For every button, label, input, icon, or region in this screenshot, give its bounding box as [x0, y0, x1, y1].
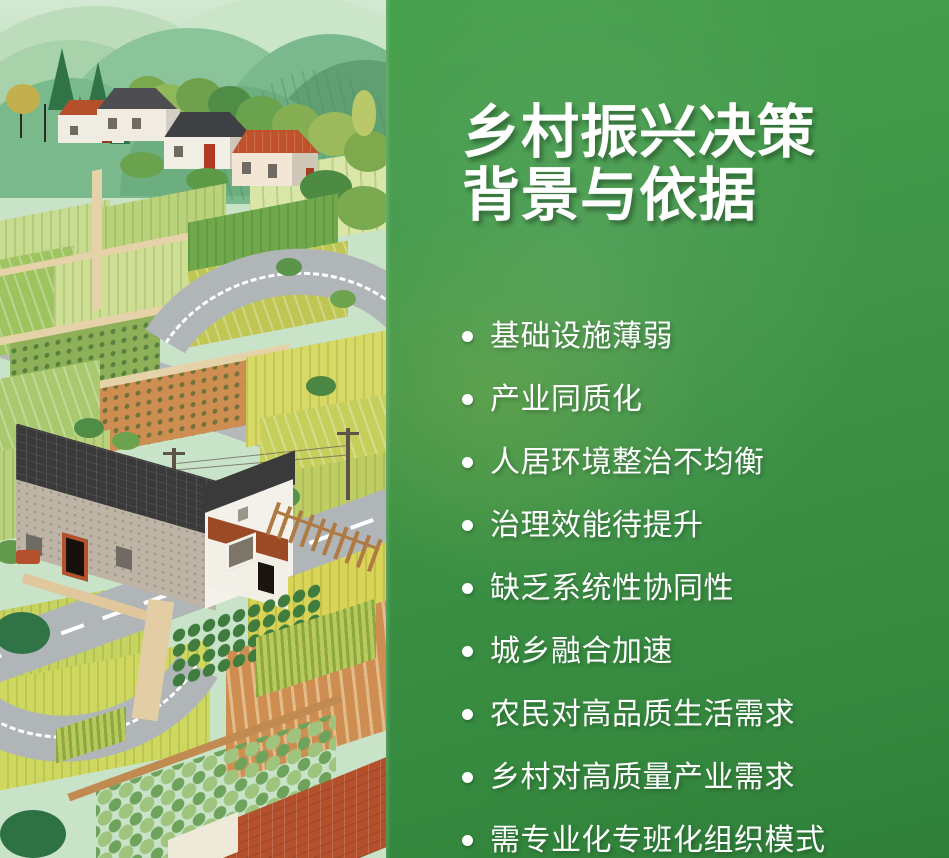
content-panel: 乡村振兴决策 背景与依据 基础设施薄弱 产业同质化 人居环境整治不均衡 治理效能… [386, 0, 949, 858]
tree-canopy [6, 84, 40, 114]
rural-landscape-illustration [0, 0, 386, 858]
bullet-dot-icon [462, 709, 473, 720]
list-item-label: 乡村对高质量产业需求 [490, 763, 795, 793]
page-title: 乡村振兴决策 背景与依据 [462, 101, 932, 226]
list-item-label: 人居环境整治不均衡 [490, 448, 765, 478]
slide-root: 乡村振兴决策 背景与依据 基础设施薄弱 产业同质化 人居环境整治不均衡 治理效能… [0, 0, 949, 858]
list-item-label: 需专业化专班化组织模式 [490, 826, 826, 856]
flower-pot [16, 550, 40, 564]
list-item-label: 农民对高品质生活需求 [490, 700, 795, 730]
bullet-dot-icon [462, 772, 473, 783]
bare-tree-icon [44, 104, 46, 142]
list-item-label: 治理效能待提升 [490, 511, 704, 541]
list-item: 治理效能待提升 [462, 494, 932, 557]
list-item-label: 产业同质化 [490, 385, 643, 415]
bullet-dot-icon [462, 835, 473, 846]
list-item: 需专业化专班化组织模式 [462, 809, 932, 858]
annex-door [258, 562, 274, 595]
bullet-dot-icon [462, 457, 473, 468]
field-path [92, 169, 102, 311]
list-item: 城乡融合加速 [462, 620, 932, 683]
house-window [108, 118, 117, 129]
bullet-dot-icon [462, 520, 473, 531]
roof-tile-texture [230, 132, 318, 152]
list-item: 乡村对高质量产业需求 [462, 746, 932, 809]
list-item: 农民对高品质生活需求 [462, 683, 932, 746]
page-title-line-2: 背景与依据 [462, 164, 932, 227]
list-item-label: 基础设施薄弱 [490, 322, 673, 352]
utility-pole [346, 428, 350, 500]
list-item: 缺乏系统性协同性 [462, 557, 932, 620]
roadside-shrub [330, 290, 356, 308]
list-item-label: 缺乏系统性协同性 [490, 574, 734, 604]
farmhouse-window [116, 546, 132, 571]
list-item: 人居环境整治不均衡 [462, 431, 932, 494]
house-window [70, 126, 78, 135]
bullet-dot-icon [462, 331, 473, 342]
bullet-dot-icon [462, 646, 473, 657]
roadside-shrub [276, 258, 302, 276]
tree-canopy [352, 90, 376, 136]
roadside-shrub [112, 432, 140, 450]
farmhouse-main-door [62, 532, 88, 581]
roadside-shrub [306, 376, 336, 396]
list-item: 产业同质化 [462, 368, 932, 431]
page-title-line-1: 乡村振兴决策 [462, 101, 932, 164]
roadside-shrub [74, 418, 104, 438]
panel-left-edge-highlight [386, 0, 391, 858]
foreground-tree [0, 810, 66, 858]
house-roof [92, 88, 178, 110]
foreground-farmhouse [10, 452, 300, 602]
bullet-dot-icon [462, 583, 473, 594]
list-item: 基础设施薄弱 [462, 305, 932, 368]
house-window [132, 118, 141, 129]
bullet-list: 基础设施薄弱 产业同质化 人居环境整治不均衡 治理效能待提升 缺乏系统性协同性 … [462, 305, 932, 858]
bullet-dot-icon [462, 394, 473, 405]
list-item-label: 城乡融合加速 [490, 637, 673, 667]
